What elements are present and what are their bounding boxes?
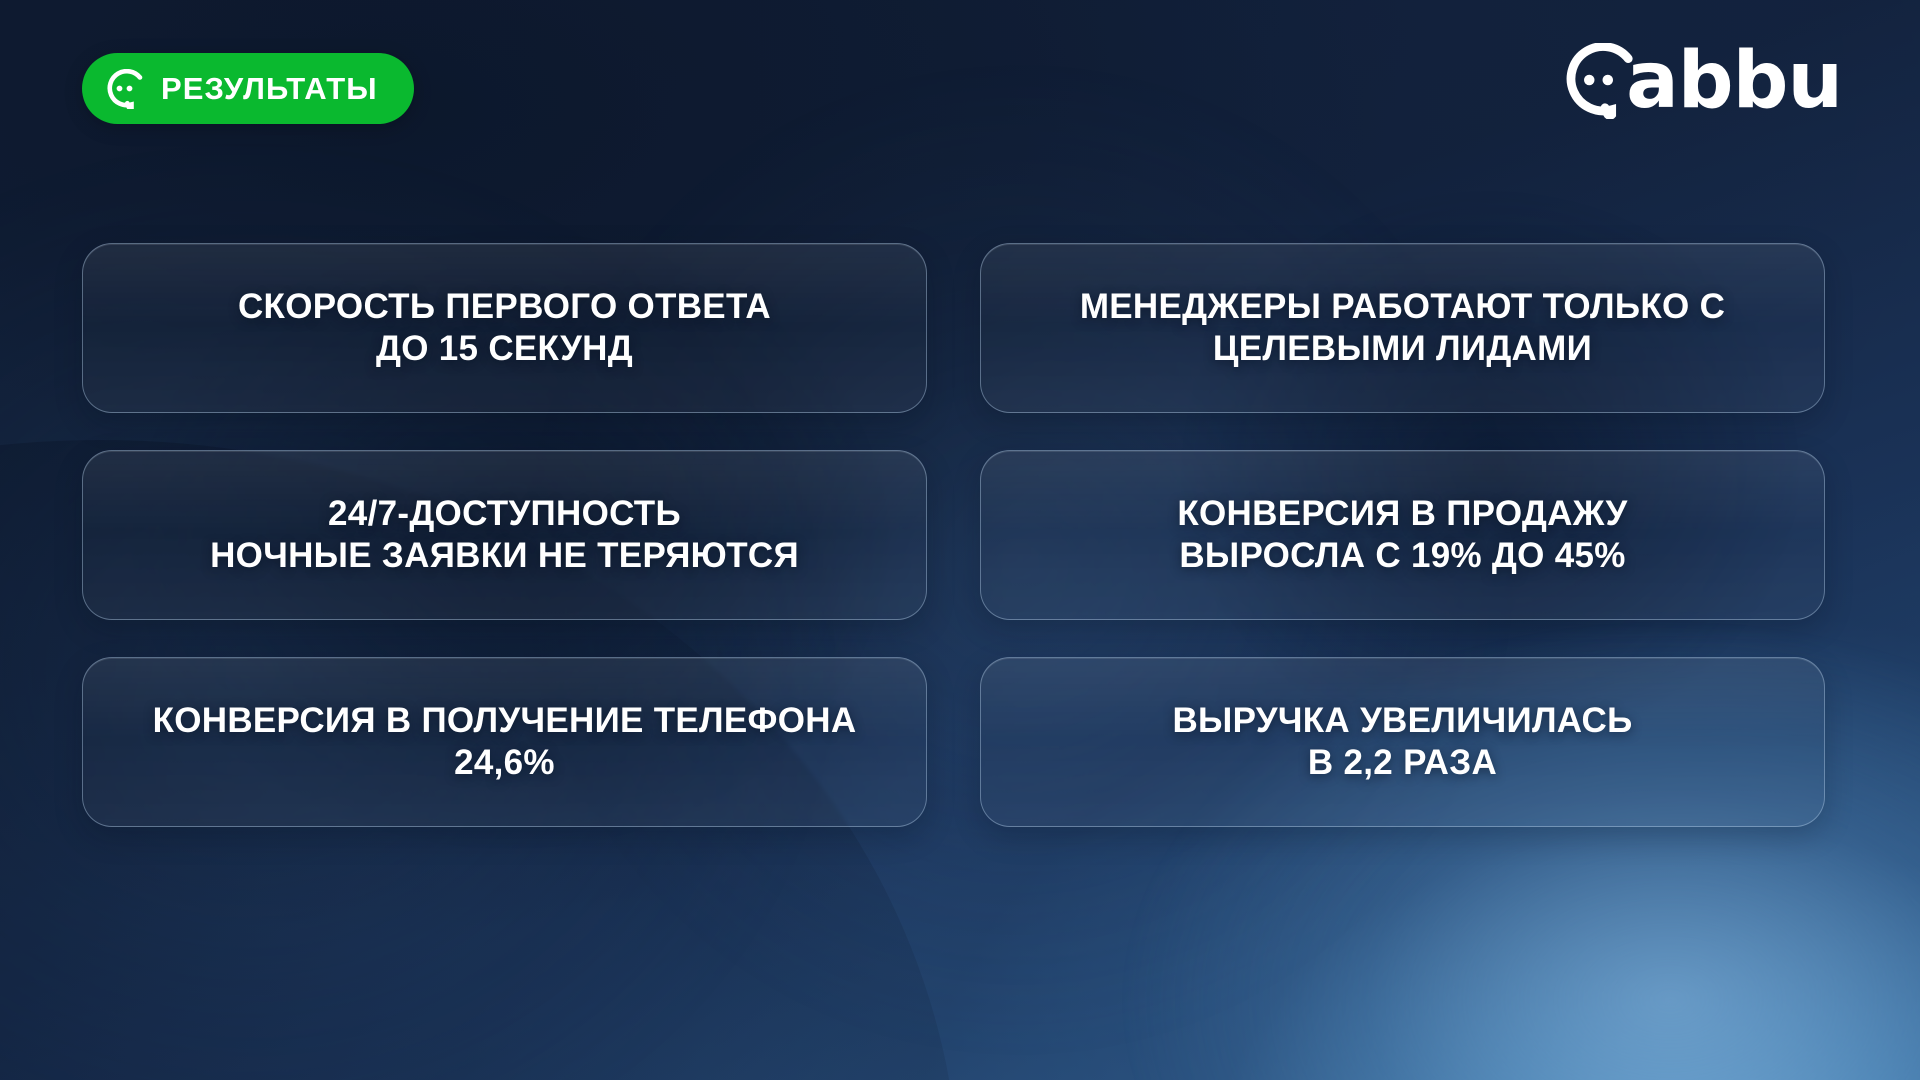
result-card-text: КОНВЕРСИЯ В ПРОДАЖУ ВЫРОСЛА С 19% ДО 45% <box>1177 493 1627 578</box>
results-row-1: СКОРОСТЬ ПЕРВОГО ОТВЕТА ДО 15 СЕКУНД МЕН… <box>0 243 1920 413</box>
result-card-text: 24/7-ДОСТУПНОСТЬ НОЧНЫЕ ЗАЯВКИ НЕ ТЕРЯЮТ… <box>210 493 799 578</box>
result-card-text: СКОРОСТЬ ПЕРВОГО ОТВЕТА ДО 15 СЕКУНД <box>238 286 771 371</box>
result-card-text: ВЫРУЧКА УВЕЛИЧИЛАСЬ В 2,2 РАЗА <box>1172 700 1632 785</box>
brand-logo: abbu <box>1560 42 1842 120</box>
results-cards-grid: СКОРОСТЬ ПЕРВОГО ОТВЕТА ДО 15 СЕКУНД МЕН… <box>0 243 1920 864</box>
result-card-text: МЕНЕДЖЕРЫ РАБОТАЮТ ТОЛЬКО С ЦЕЛЕВЫМИ ЛИД… <box>1080 286 1725 371</box>
results-badge-label: РЕЗУЛЬТАТЫ <box>161 73 378 104</box>
results-row-3: КОНВЕРСИЯ В ПОЛУЧЕНИЕ ТЕЛЕФОНА 24,6% ВЫР… <box>0 657 1920 827</box>
result-card-speed-of-first-reply: СКОРОСТЬ ПЕРВОГО ОТВЕТА ДО 15 СЕКУНД <box>82 243 927 413</box>
result-card-revenue-increase: ВЫРУЧКА УВЕЛИЧИЛАСЬ В 2,2 РАЗА <box>980 657 1825 827</box>
result-card-text: КОНВЕРСИЯ В ПОЛУЧЕНИЕ ТЕЛЕФОНА 24,6% <box>153 700 857 785</box>
results-slide: РЕЗУЛЬТАТЫ abbu СКОРОСТЬ ПЕРВОГО ОТВЕТА … <box>0 0 1920 1080</box>
results-row-2: 24/7-ДОСТУПНОСТЬ НОЧНЫЕ ЗАЯВКИ НЕ ТЕРЯЮТ… <box>0 450 1920 620</box>
results-badge: РЕЗУЛЬТАТЫ <box>82 53 414 124</box>
result-card-managers-target-leads: МЕНЕДЖЕРЫ РАБОТАЮТ ТОЛЬКО С ЦЕЛЕВЫМИ ЛИД… <box>980 243 1825 413</box>
result-card-availability-24-7: 24/7-ДОСТУПНОСТЬ НОЧНЫЕ ЗАЯВКИ НЕ ТЕРЯЮТ… <box>82 450 927 620</box>
result-card-phone-capture-conversion: КОНВЕРСИЯ В ПОЛУЧЕНИЕ ТЕЛЕФОНА 24,6% <box>82 657 927 827</box>
brand-logo-wordmark: abbu <box>1626 42 1842 120</box>
chat-bubble-smile-icon <box>104 69 144 109</box>
result-card-sales-conversion-growth: КОНВЕРСИЯ В ПРОДАЖУ ВЫРОСЛА С 19% ДО 45% <box>980 450 1825 620</box>
